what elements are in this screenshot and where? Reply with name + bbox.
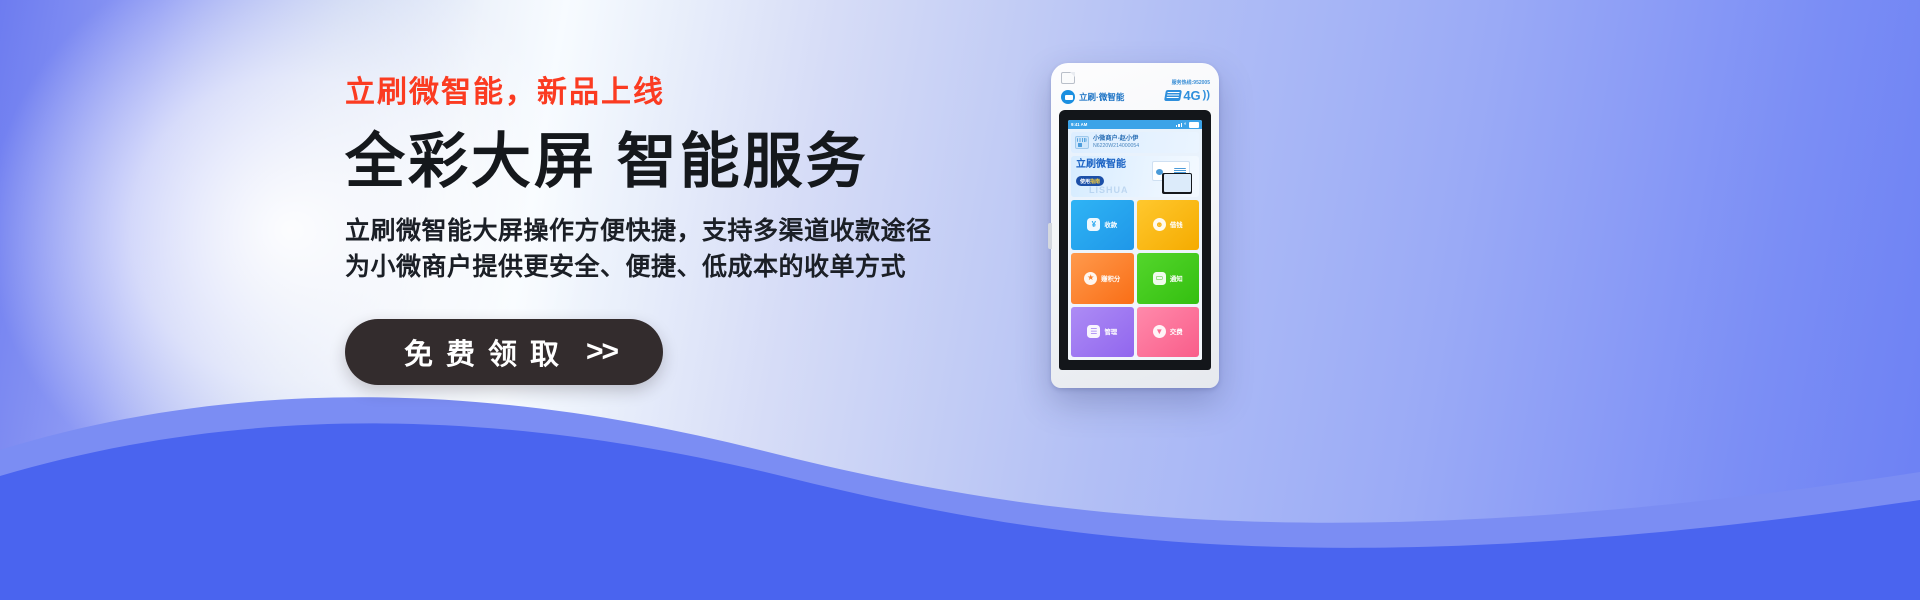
shop-icon — [1075, 136, 1089, 149]
赚积分-icon: ★ — [1084, 272, 1097, 285]
network-indicator: 4G )) — [1165, 89, 1210, 102]
device-side-button[interactable] — [1048, 223, 1052, 249]
device-brand: 立刷·微智能 — [1061, 90, 1124, 104]
cta-label: 免费领取 — [391, 331, 572, 373]
app-tile-label: 管理 — [1104, 327, 1117, 336]
收款-icon: ¥ — [1087, 218, 1100, 231]
app-tile-赚积分[interactable]: ★赚积分 — [1071, 253, 1134, 304]
status-indicators: ◐ — [1176, 122, 1199, 128]
app-tile-管理[interactable]: ☰管理 — [1071, 307, 1134, 358]
network-label: 4G — [1183, 89, 1200, 102]
app-grid: ¥收款☻借钱★赚积分▭通知☰管理▼交费 — [1071, 200, 1199, 358]
promo-card[interactable]: 立刷微智能 使用指南 LISHUA — [1071, 156, 1199, 197]
app-tile-通知[interactable]: ▭通知 — [1137, 253, 1200, 304]
status-bar: 9:41 AM ◐ — [1068, 120, 1202, 129]
device-screen: 9:41 AM ◐ 小微商户-赵小伊 N6220W214000054 — [1068, 120, 1202, 360]
screen-content: 小微商户-赵小伊 N6220W214000054 立刷微智能 使用指南 LISH… — [1068, 129, 1202, 360]
chevron-right-double-icon: >> — [586, 335, 617, 369]
banner-subline-2: 为小微商户提供更安全、便捷、低成本的收单方式 — [345, 250, 1045, 286]
借钱-icon: ☻ — [1153, 218, 1166, 231]
promo-banner: 立刷微智能，新品上线 全彩大屏 智能服务 立刷微智能大屏操作方便快捷，支持多渠道… — [0, 0, 1920, 600]
app-tile-label: 收款 — [1104, 220, 1117, 229]
sim-chip-icon — [1164, 90, 1182, 101]
promo-thumbnail — [1152, 161, 1196, 194]
lishua-logo-icon — [1061, 90, 1075, 104]
banner-headline: 全彩大屏 智能服务 — [345, 132, 1045, 192]
thumbnail-device-icon — [1162, 173, 1192, 194]
merchant-serial: N6220W214000054 — [1093, 143, 1139, 150]
free-claim-button[interactable]: 免费领取 >> — [345, 319, 663, 385]
交费-icon: ▼ — [1153, 325, 1166, 338]
merchant-name: 小微商户-赵小伊 — [1093, 135, 1139, 143]
banner-eyebrow: 立刷微智能，新品上线 — [345, 78, 1045, 108]
merchant-card[interactable]: 小微商户-赵小伊 N6220W214000054 — [1071, 132, 1199, 153]
device-top-bezel: 服务热线:952005 立刷·微智能 4G )) — [1051, 63, 1219, 110]
pos-device: 服务热线:952005 立刷·微智能 4G )) 9:41 AM ◐ — [1051, 63, 1219, 388]
app-tile-交费[interactable]: ▼交费 — [1137, 307, 1200, 358]
device-screen-frame: 9:41 AM ◐ 小微商户-赵小伊 N6220W214000054 — [1059, 110, 1211, 370]
signal-waves-icon: )) — [1203, 90, 1210, 101]
battery-icon — [1189, 122, 1199, 128]
promo-watermark: LISHUA — [1089, 185, 1129, 195]
app-tile-label: 交费 — [1170, 327, 1183, 336]
service-hotline: 服务热线:952005 — [1172, 79, 1210, 86]
app-tile-label: 通知 — [1170, 274, 1183, 283]
banner-subline-1: 立刷微智能大屏操作方便快捷，支持多渠道收款途径 — [345, 214, 1045, 250]
status-time: 9:41 AM — [1071, 122, 1087, 127]
管理-icon: ☰ — [1087, 325, 1100, 338]
wifi-icon: ◐ — [1184, 122, 1187, 127]
app-tile-label: 赚积分 — [1101, 274, 1120, 283]
banner-copy: 立刷微智能，新品上线 全彩大屏 智能服务 立刷微智能大屏操作方便快捷，支持多渠道… — [345, 78, 1045, 385]
device-brand-name: 立刷·微智能 — [1079, 91, 1124, 103]
printer-slot-icon — [1061, 72, 1075, 84]
app-tile-借钱[interactable]: ☻借钱 — [1137, 200, 1200, 251]
merchant-info: 小微商户-赵小伊 N6220W214000054 — [1093, 135, 1139, 150]
通知-icon: ▭ — [1153, 272, 1166, 285]
app-tile-label: 借钱 — [1170, 220, 1183, 229]
app-tile-收款[interactable]: ¥收款 — [1071, 200, 1134, 251]
signal-icon — [1176, 123, 1182, 127]
